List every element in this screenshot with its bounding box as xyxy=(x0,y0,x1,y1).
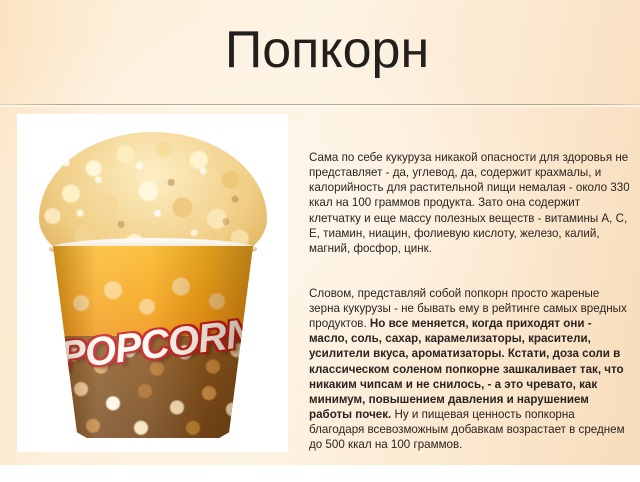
page-title: Попкорн xyxy=(0,22,640,78)
bucket-illustration: POPCORN xyxy=(17,114,288,452)
body-text-block: Сама по себе кукуруза никакой опасности … xyxy=(309,120,633,482)
popcorn-bucket-photo: POPCORN xyxy=(17,114,288,452)
slide-canvas: Попкорн POPCORN Сама по себе кукуруза ни… xyxy=(0,0,640,465)
title-divider-highlight xyxy=(0,105,640,107)
paragraph-2: Словом, представляй собой попкорн просто… xyxy=(309,286,633,452)
paragraph-1: Сама по себе кукуруза никакой опасности … xyxy=(309,150,633,256)
title-band: Попкорн xyxy=(0,0,640,106)
paragraph-2-emphasis: Но все меняется, когда приходят они - ма… xyxy=(309,317,627,421)
bucket-body: POPCORN xyxy=(53,246,253,438)
